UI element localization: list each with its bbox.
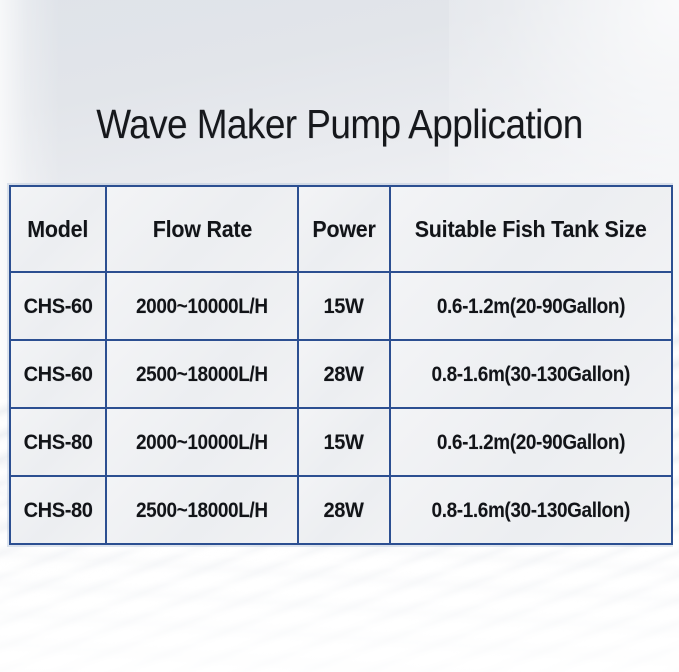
specification-table: Model Flow Rate Power Suitable Fish Tank…: [9, 185, 673, 545]
cell-power-value: 15W: [324, 430, 364, 455]
cell-power: 28W: [298, 340, 390, 408]
column-header-tank-size: Suitable Fish Tank Size: [390, 186, 672, 272]
cell-model: CHS-60: [10, 340, 106, 408]
cell-tank-size-value: 0.6-1.2m(20-90Gallon): [437, 430, 625, 455]
cell-tank-size: 0.8-1.6m(30-130Gallon): [390, 476, 672, 544]
cell-model: CHS-80: [10, 408, 106, 476]
cell-power: 15W: [298, 408, 390, 476]
table-header: Model Flow Rate Power Suitable Fish Tank…: [10, 186, 672, 272]
cell-model-value: CHS-80: [24, 430, 93, 455]
cell-power-value: 15W: [324, 294, 364, 319]
cell-model-value: CHS-60: [24, 294, 93, 319]
cell-tank-size-value: 0.8-1.6m(30-130Gallon): [432, 362, 630, 387]
column-header-tank-size-label: Suitable Fish Tank Size: [415, 216, 647, 243]
table-row: CHS-60 2500~18000L/H 28W 0.8-1.6m(30-130…: [10, 340, 672, 408]
column-header-flow-rate: Flow Rate: [106, 186, 298, 272]
cell-tank-size-value: 0.8-1.6m(30-130Gallon): [432, 498, 630, 523]
column-header-model-label: Model: [28, 216, 89, 243]
product-spec-page: Wave Maker Pump Application Model Flow R…: [0, 0, 679, 672]
column-header-model: Model: [10, 186, 106, 272]
cell-flow-rate: 2000~10000L/H: [106, 408, 298, 476]
column-header-power: Power: [298, 186, 390, 272]
column-header-flow-rate-label: Flow Rate: [152, 216, 251, 243]
cell-flow-rate-value: 2000~10000L/H: [136, 430, 268, 455]
spec-table-container: Model Flow Rate Power Suitable Fish Tank…: [7, 183, 673, 547]
table-header-row: Model Flow Rate Power Suitable Fish Tank…: [10, 186, 672, 272]
cell-flow-rate-value: 2500~18000L/H: [136, 362, 268, 387]
cell-power: 28W: [298, 476, 390, 544]
page-title: Wave Maker Pump Application: [34, 101, 645, 148]
cell-flow-rate: 2000~10000L/H: [106, 272, 298, 340]
cell-model-value: CHS-80: [24, 498, 93, 523]
table-row: CHS-60 2000~10000L/H 15W 0.6-1.2m(20-90G…: [10, 272, 672, 340]
cell-model-value: CHS-60: [24, 362, 93, 387]
cell-flow-rate-value: 2500~18000L/H: [136, 498, 268, 523]
cell-flow-rate: 2500~18000L/H: [106, 476, 298, 544]
table-body: CHS-60 2000~10000L/H 15W 0.6-1.2m(20-90G…: [10, 272, 672, 544]
cell-tank-size: 0.6-1.2m(20-90Gallon): [390, 408, 672, 476]
cell-power-value: 28W: [324, 498, 364, 523]
column-header-power-label: Power: [312, 216, 375, 243]
cell-model: CHS-60: [10, 272, 106, 340]
cell-power-value: 28W: [324, 362, 364, 387]
table-row: CHS-80 2000~10000L/H 15W 0.6-1.2m(20-90G…: [10, 408, 672, 476]
table-row: CHS-80 2500~18000L/H 28W 0.8-1.6m(30-130…: [10, 476, 672, 544]
cell-tank-size: 0.6-1.2m(20-90Gallon): [390, 272, 672, 340]
cell-tank-size-value: 0.6-1.2m(20-90Gallon): [437, 294, 625, 319]
cell-tank-size: 0.8-1.6m(30-130Gallon): [390, 340, 672, 408]
cell-flow-rate: 2500~18000L/H: [106, 340, 298, 408]
cell-model: CHS-80: [10, 476, 106, 544]
cell-flow-rate-value: 2000~10000L/H: [136, 294, 268, 319]
cell-power: 15W: [298, 272, 390, 340]
